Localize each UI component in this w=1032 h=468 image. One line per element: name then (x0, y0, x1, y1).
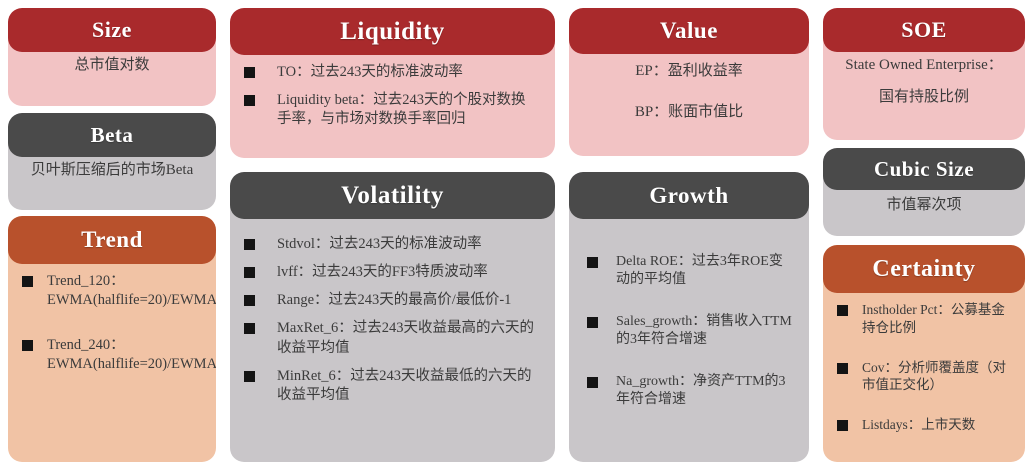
list-item-label: Range：过去243天的最高价/最低价-1 (277, 291, 539, 310)
list-item: Stdvol：过去243天的标准波动率 (244, 235, 539, 254)
square-bullet-icon (244, 371, 255, 382)
note-text: EP：盈利收益率 (583, 60, 795, 83)
card-growth: Growth Delta ROE：过去3年ROE变动的平均值 Sales_gro… (569, 172, 809, 462)
card-cubic-size-title: Cubic Size (823, 148, 1025, 190)
square-bullet-icon (587, 377, 598, 388)
square-bullet-icon (22, 340, 33, 351)
list-item-label: MaxRet_6：过去243天收益最高的六天的收益平均值 (277, 319, 539, 357)
list-item-label: Na_growth：净资产TTM的3年符合增速 (616, 373, 795, 410)
list-item-label: Stdvol：过去243天的标准波动率 (277, 235, 539, 254)
square-bullet-icon (244, 95, 255, 106)
square-bullet-icon (244, 295, 255, 306)
card-growth-title: Growth (569, 172, 809, 219)
square-bullet-icon (22, 276, 33, 287)
list-item-label: Sales_growth：销售收入TTM的3年符合增速 (616, 313, 795, 350)
card-certainty: Certainty Instholder Pct：公募基金持仓比例 Cov：分析… (823, 245, 1025, 462)
card-volatility-title: Volatility (230, 172, 555, 219)
card-liquidity: Liquidity TO：过去243天的标准波动率 Liquidity beta… (230, 8, 555, 158)
list-item: Range：过去243天的最高价/最低价-1 (244, 291, 539, 310)
card-trend-body: Trend_120：EWMA(halflife=20)/EWMA(halflif… (8, 250, 216, 462)
square-bullet-icon (587, 257, 598, 268)
note-text: BP：账面市值比 (583, 101, 795, 124)
list-item-label: Cov：分析师覆盖度（对市值正交化） (862, 359, 1013, 395)
list-item: Listdays：上市天数 (837, 416, 1013, 434)
card-soe-notes: State Owned Enterprise： 国有持股比例 (835, 54, 1013, 108)
card-certainty-bullets: Instholder Pct：公募基金持仓比例 Cov：分析师覆盖度（对市值正交… (837, 301, 1013, 434)
card-size: Size 总市值对数 (8, 8, 216, 106)
list-item-label: Instholder Pct：公募基金持仓比例 (862, 301, 1013, 337)
list-item: Instholder Pct：公募基金持仓比例 (837, 301, 1013, 337)
note-text: 贝叶斯压缩后的市场Beta (18, 159, 206, 182)
card-volatility: Volatility Stdvol：过去243天的标准波动率 lvff：过去24… (230, 172, 555, 462)
card-liquidity-body: TO：过去243天的标准波动率 Liquidity beta：过去243天的个股… (230, 41, 555, 158)
card-volatility-body: Stdvol：过去243天的标准波动率 lvff：过去243天的FF3特质波动率… (230, 205, 555, 462)
note-text: State Owned Enterprise： (835, 54, 1013, 77)
card-trend-bullets: Trend_120：EWMA(halflife=20)/EWMA(halflif… (22, 272, 202, 375)
square-bullet-icon (244, 67, 255, 78)
list-item-label: Trend_120：EWMA(halflife=20)/EWMA(halflif… (47, 272, 216, 310)
note-text: 国有持股比例 (835, 86, 1013, 109)
card-liquidity-title: Liquidity (230, 8, 555, 55)
factor-group-board: Size 总市值对数 Beta 贝叶斯压缩后的市场Beta Trend Tren… (0, 0, 1032, 468)
list-item-label: TO：过去243天的标准波动率 (277, 63, 539, 82)
card-cubic-size-notes: 市值幂次项 (833, 194, 1015, 217)
list-item: Cov：分析师覆盖度（对市值正交化） (837, 359, 1013, 395)
card-beta-notes: 贝叶斯压缩后的市场Beta (18, 159, 206, 182)
card-value-title: Value (569, 8, 809, 54)
square-bullet-icon (837, 420, 848, 431)
card-size-notes: 总市值对数 (20, 54, 204, 77)
card-trend: Trend Trend_120：EWMA(halflife=20)/EWMA(h… (8, 216, 216, 462)
card-beta: Beta 贝叶斯压缩后的市场Beta (8, 113, 216, 210)
card-soe: SOE State Owned Enterprise： 国有持股比例 (823, 8, 1025, 140)
card-growth-body: Delta ROE：过去3年ROE变动的平均值 Sales_growth：销售收… (569, 205, 809, 462)
list-item-label: Delta ROE：过去3年ROE变动的平均值 (616, 253, 795, 290)
card-value: Value EP：盈利收益率 BP：账面市值比 (569, 8, 809, 156)
list-item-label: MinRet_6：过去243天收益最低的六天的收益平均值 (277, 367, 539, 405)
list-item: MinRet_6：过去243天收益最低的六天的收益平均值 (244, 367, 539, 405)
list-item: lvff：过去243天的FF3特质波动率 (244, 263, 539, 282)
card-soe-body: State Owned Enterprise： 国有持股比例 (823, 38, 1025, 140)
card-trend-title: Trend (8, 216, 216, 264)
square-bullet-icon (244, 267, 255, 278)
card-cubic-size: Cubic Size 市值幂次项 (823, 148, 1025, 236)
note-text: 市值幂次项 (833, 194, 1015, 217)
list-item: Sales_growth：销售收入TTM的3年符合增速 (587, 313, 795, 350)
card-volatility-bullets: Stdvol：过去243天的标准波动率 lvff：过去243天的FF3特质波动率… (244, 235, 539, 405)
card-size-title: Size (8, 8, 216, 52)
note-text: 总市值对数 (20, 54, 204, 77)
square-bullet-icon (244, 239, 255, 250)
card-growth-bullets: Delta ROE：过去3年ROE变动的平均值 Sales_growth：销售收… (587, 253, 795, 410)
list-item-label: lvff：过去243天的FF3特质波动率 (277, 263, 539, 282)
list-item: Liquidity beta：过去243天的个股对数换手率，与市场对数换手率回归 (244, 91, 539, 129)
card-certainty-body: Instholder Pct：公募基金持仓比例 Cov：分析师覆盖度（对市值正交… (823, 279, 1025, 462)
square-bullet-icon (837, 305, 848, 316)
square-bullet-icon (837, 363, 848, 374)
list-item-label: Liquidity beta：过去243天的个股对数换手率，与市场对数换手率回归 (277, 91, 539, 129)
list-item: MaxRet_6：过去243天收益最高的六天的收益平均值 (244, 319, 539, 357)
card-value-body: EP：盈利收益率 BP：账面市值比 (569, 40, 809, 156)
card-soe-title: SOE (823, 8, 1025, 52)
list-item: TO：过去243天的标准波动率 (244, 63, 539, 82)
list-item-label: Trend_240：EWMA(halflife=20)/EWMA(halflif… (47, 336, 216, 374)
card-liquidity-bullets: TO：过去243天的标准波动率 Liquidity beta：过去243天的个股… (244, 63, 539, 129)
square-bullet-icon (244, 323, 255, 334)
card-beta-title: Beta (8, 113, 216, 157)
list-item: Trend_120：EWMA(halflife=20)/EWMA(halflif… (22, 272, 202, 310)
list-item-label: Listdays：上市天数 (862, 416, 1013, 434)
card-value-notes: EP：盈利收益率 BP：账面市值比 (583, 60, 795, 123)
square-bullet-icon (587, 317, 598, 328)
card-certainty-title: Certainty (823, 245, 1025, 293)
list-item: Trend_240：EWMA(halflife=20)/EWMA(halflif… (22, 336, 202, 374)
list-item: Delta ROE：过去3年ROE变动的平均值 (587, 253, 795, 290)
list-item: Na_growth：净资产TTM的3年符合增速 (587, 373, 795, 410)
